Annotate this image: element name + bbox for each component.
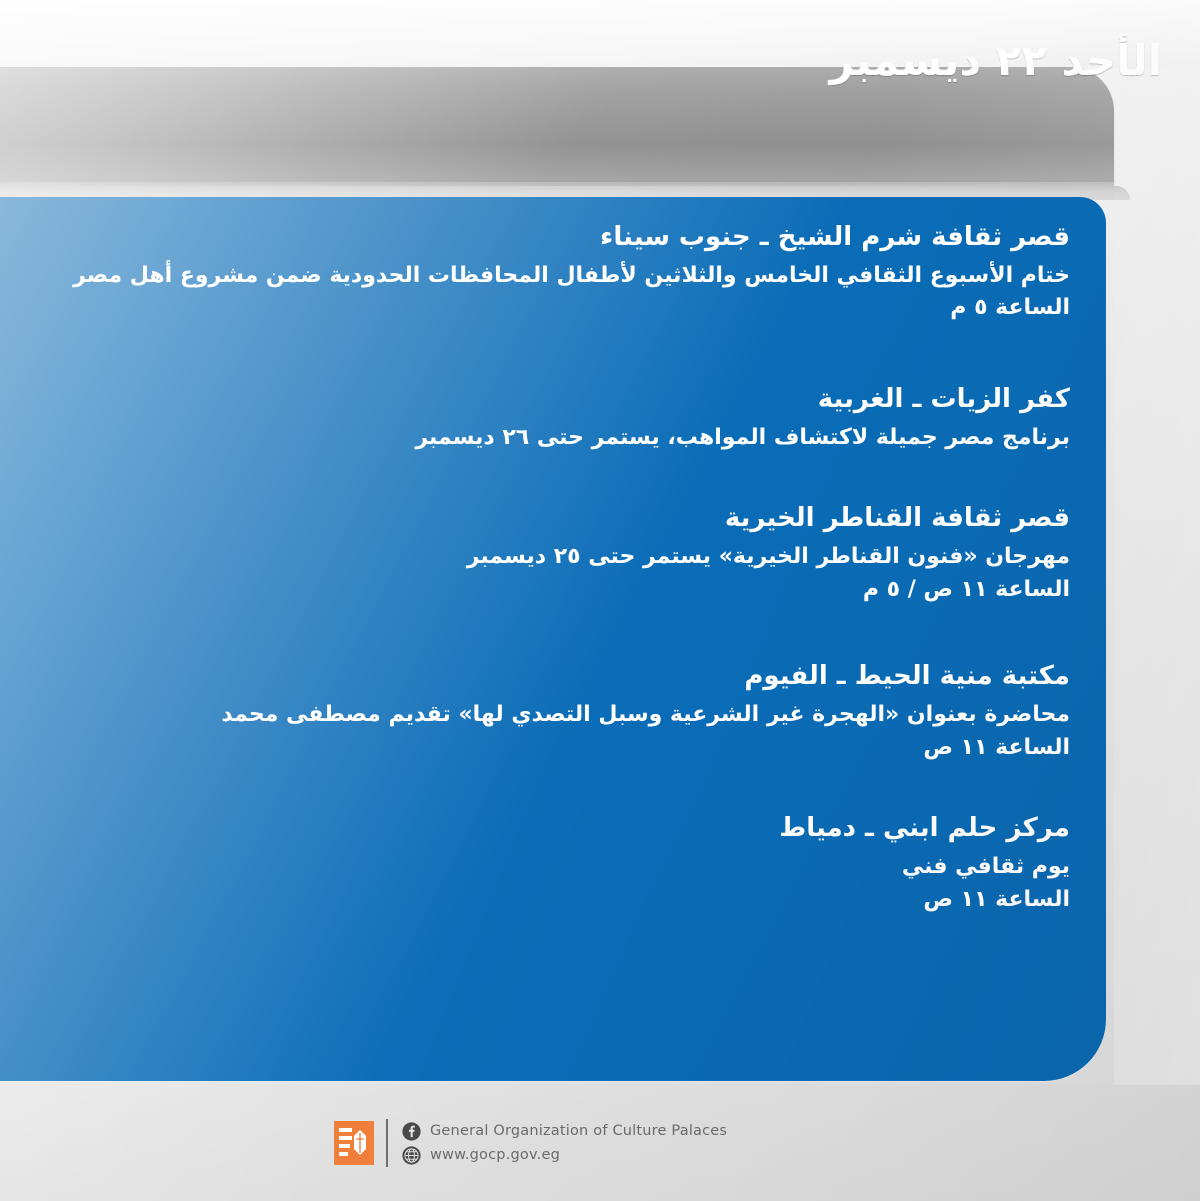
events-list: قصر ثقافة شرم الشيخ ـ جنوب سيناء ختام ال… bbox=[24, 219, 1070, 916]
event-description: برنامج مصر جميلة لاكتشاف المواهب، يستمر … bbox=[24, 422, 1070, 455]
event-time: الساعة ١١ ص bbox=[24, 732, 1070, 765]
event-venue: مركز حلم ابني ـ دمياط bbox=[24, 810, 1070, 847]
footer-divider bbox=[386, 1119, 388, 1167]
website-row[interactable]: www.gocp.gov.eg bbox=[402, 1146, 727, 1165]
header-bar-gloss bbox=[0, 67, 1114, 192]
card-right-edge-highlight bbox=[1114, 0, 1200, 1085]
header-bar bbox=[0, 67, 1114, 192]
list-item: مكتبة منية الحيط ـ الفيوم محاضرة بعنوان … bbox=[24, 658, 1070, 764]
event-description: ختام الأسبوع الثقافي الخامس والثلاثين لأ… bbox=[24, 260, 1070, 293]
list-item: مركز حلم ابني ـ دمياط يوم ثقافي فني السا… bbox=[24, 810, 1070, 916]
event-venue: قصر ثقافة شرم الشيخ ـ جنوب سيناء bbox=[24, 219, 1070, 256]
event-venue: مكتبة منية الحيط ـ الفيوم bbox=[24, 658, 1070, 695]
page-title: الأحد ٢٢ ديسمبر bbox=[830, 36, 1163, 85]
event-description: يوم ثقافي فني bbox=[24, 851, 1070, 884]
event-time: الساعة ١١ ص bbox=[24, 884, 1070, 917]
facebook-label: General Organization of Culture Palaces bbox=[430, 1123, 727, 1139]
logo-monument-icon bbox=[350, 1129, 370, 1157]
event-time: الساعة ٥ م bbox=[24, 292, 1070, 325]
gocp-logo bbox=[334, 1121, 374, 1165]
events-panel: قصر ثقافة شرم الشيخ ـ جنوب سيناء ختام ال… bbox=[0, 197, 1106, 1081]
event-venue: كفر الزيات ـ الغربية bbox=[24, 381, 1070, 418]
facebook-icon[interactable] bbox=[402, 1122, 421, 1141]
list-item: قصر ثقافة القناطر الخيرية مهرجان «فنون ا… bbox=[24, 500, 1070, 606]
event-venue: قصر ثقافة القناطر الخيرية bbox=[24, 500, 1070, 537]
poster-canvas: الأحد ٢٢ ديسمبر قصر ثقافة شرم الشيخ ـ جن… bbox=[0, 0, 1200, 1201]
event-description: محاضرة بعنوان «الهجرة غير الشرعية وسبل ا… bbox=[24, 699, 1070, 732]
footer: General Organization of Culture Palaces bbox=[0, 1085, 1200, 1201]
event-description: مهرجان «فنون القناطر الخيرية» يستمر حتى … bbox=[24, 541, 1070, 574]
list-item: كفر الزيات ـ الغربية برنامج مصر جميلة لا… bbox=[24, 381, 1070, 454]
list-item: قصر ثقافة شرم الشيخ ـ جنوب سيناء ختام ال… bbox=[24, 219, 1070, 325]
globe-icon[interactable] bbox=[402, 1146, 421, 1165]
facebook-row[interactable]: General Organization of Culture Palaces bbox=[402, 1122, 727, 1141]
website-label: www.gocp.gov.eg bbox=[430, 1147, 560, 1163]
footer-contacts: General Organization of Culture Palaces bbox=[402, 1122, 727, 1165]
footer-content: General Organization of Culture Palaces bbox=[334, 1119, 727, 1167]
event-time: الساعة ١١ ص / ٥ م bbox=[24, 574, 1070, 607]
